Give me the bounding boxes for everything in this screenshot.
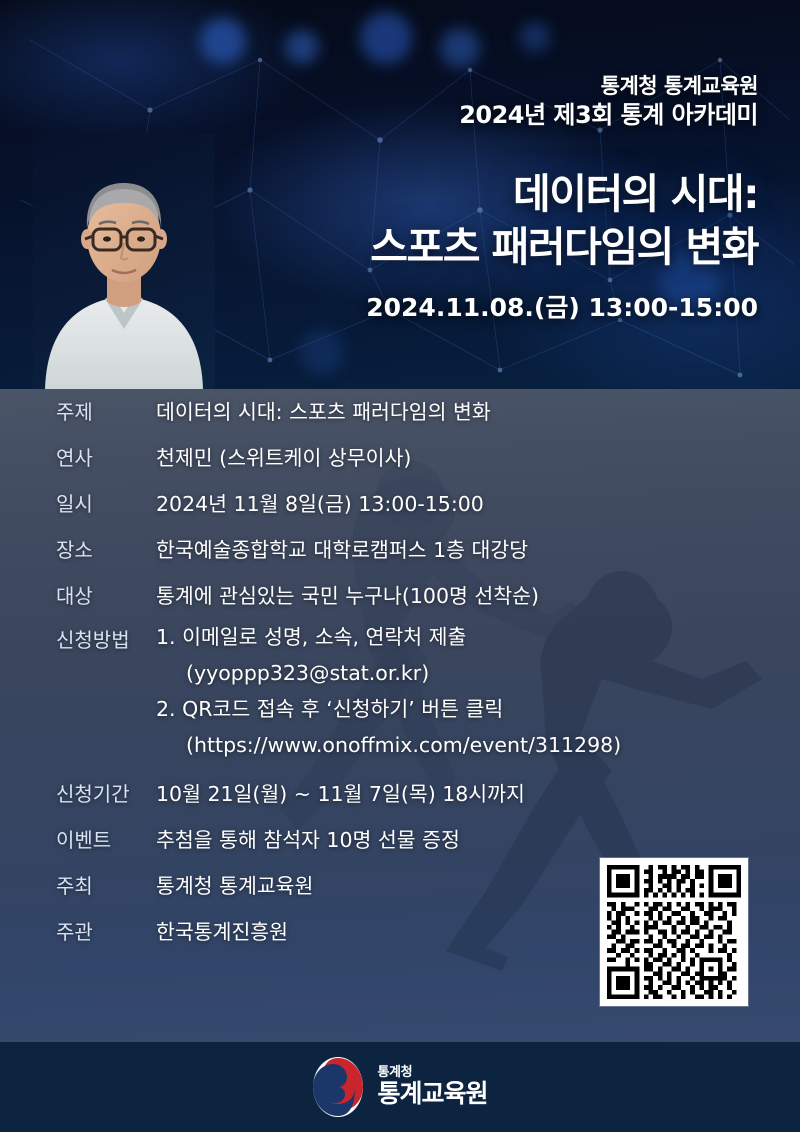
bokeh-light xyxy=(520,22,550,52)
info-row-datetime: 일시 2024년 11월 8일(금) 13:00-15:00 xyxy=(0,481,800,527)
info-value: 추첨을 통해 참석자 10명 선물 증정 xyxy=(152,817,800,863)
bokeh-light xyxy=(440,28,480,68)
info-row-application-period: 신청기간 10월 21일(월) ~ 11월 7일(목) 18시까지 xyxy=(0,771,800,817)
title-line-2: 스포츠 패러다임의 변화 xyxy=(370,220,758,274)
info-label: 장소 xyxy=(56,527,152,573)
footer-agency: 통계청 xyxy=(377,1066,487,1081)
info-label: 연사 xyxy=(56,435,152,481)
taegeuk-logo-icon xyxy=(312,1056,364,1118)
poster-title: 데이터의 시대: 스포츠 패러다임의 변화 xyxy=(370,168,758,274)
info-label: 일시 xyxy=(56,481,152,527)
organization-line: 통계청 통계교육원 xyxy=(459,72,758,100)
info-row-subject: 주제 데이터의 시대: 스포츠 패러다임의 변화 xyxy=(0,389,800,435)
qr-code[interactable] xyxy=(600,858,748,1006)
info-value: 한국예술종합학교 대학로캠퍼스 1층 대강당 xyxy=(152,527,800,573)
info-label: 신청방법 xyxy=(56,619,152,661)
qr-code-icon xyxy=(607,865,741,999)
info-value: 데이터의 시대: 스포츠 패러다임의 변화 xyxy=(152,389,800,435)
info-label: 이벤트 xyxy=(56,817,152,863)
apply-step-1: 1. 이메일로 성명, 소속, 연락처 제출 xyxy=(156,619,800,655)
info-row-audience: 대상 통계에 관심있는 국민 누구나(100명 선착순) xyxy=(0,573,800,619)
info-row-event: 이벤트 추첨을 통해 참석자 10명 선물 증정 xyxy=(0,817,800,863)
footer-institute: 통계교육원 xyxy=(377,1080,487,1108)
footer-logo-text: 통계청 통계교육원 xyxy=(377,1066,487,1109)
bokeh-light xyxy=(300,330,344,374)
info-label: 신청기간 xyxy=(56,771,152,817)
title-line-1: 데이터의 시대: xyxy=(370,168,758,220)
info-label: 주제 xyxy=(56,389,152,435)
info-value: 통계에 관심있는 국민 누구나(100명 선착순) xyxy=(152,573,800,619)
info-value: 2024년 11월 8일(금) 13:00-15:00 xyxy=(152,481,800,527)
portrait-illustration xyxy=(33,133,215,389)
event-poster: 통계청 통계교육원 2024년 제3회 통계 아카데미 데이터의 시대: 스포츠… xyxy=(0,0,800,1132)
info-row-venue: 장소 한국예술종합학교 대학로캠퍼스 1층 대강당 xyxy=(0,527,800,573)
info-row-speaker: 연사 천제민 (스위트케이 상무이사) xyxy=(0,435,800,481)
footer-bar: 통계청 통계교육원 xyxy=(0,1042,800,1132)
apply-email[interactable]: (yyoppp323@stat.or.kr) xyxy=(156,655,800,691)
bokeh-light xyxy=(285,30,319,64)
info-value: 천제민 (스위트케이 상무이사) xyxy=(152,435,800,481)
event-series-line: 2024년 제3회 통계 아카데미 xyxy=(459,100,758,131)
info-label: 주최 xyxy=(56,863,152,909)
hero-background: 통계청 통계교육원 2024년 제3회 통계 아카데미 데이터의 시대: 스포츠… xyxy=(0,0,800,389)
info-value: 1. 이메일로 성명, 소속, 연락처 제출 (yyoppp323@stat.o… xyxy=(152,619,800,763)
info-row-how-to-apply: 신청방법 1. 이메일로 성명, 소속, 연락처 제출 (yyoppp323@s… xyxy=(0,619,800,771)
info-label: 대상 xyxy=(56,573,152,619)
header-titles: 통계청 통계교육원 2024년 제3회 통계 아카데미 xyxy=(459,72,758,131)
apply-step-2: 2. QR코드 접속 후 ‘신청하기’ 버튼 클릭 xyxy=(156,691,800,727)
hero-datetime: 2024.11.08.(금) 13:00-15:00 xyxy=(366,288,758,324)
apply-url[interactable]: (https://www.onoffmix.com/event/311298) xyxy=(156,727,800,763)
info-label: 주관 xyxy=(56,909,152,955)
bokeh-light xyxy=(200,18,246,64)
bokeh-light xyxy=(360,12,412,64)
info-value: 10월 21일(월) ~ 11월 7일(목) 18시까지 xyxy=(152,771,800,817)
speaker-photo xyxy=(33,133,215,389)
